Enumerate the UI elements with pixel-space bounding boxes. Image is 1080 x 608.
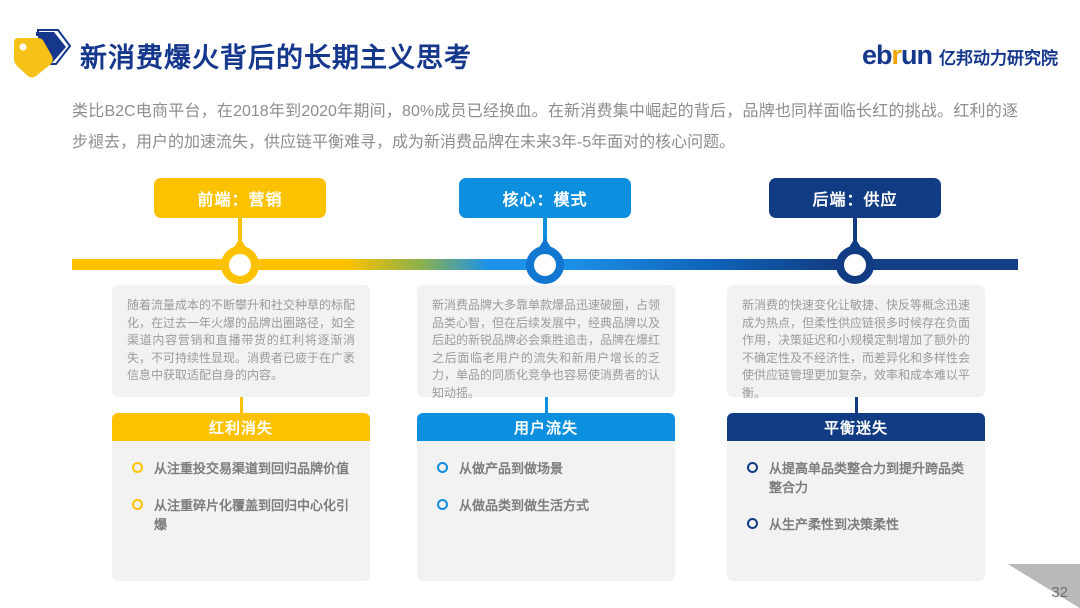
bullet-text: 从注重投交易渠道到回归品牌价值 [154, 459, 349, 478]
slide-canvas: 新消费爆火背后的长期主义思考 ebrun 亿邦动力研究院 类比B2C电商平台，在… [0, 0, 1080, 608]
pill-front-end: 前端：营销 [154, 178, 326, 218]
pill-front-end-label: 前端：营销 [197, 186, 282, 210]
description-text-1: 随着流量成本的不断攀升和社交种草的标配化，在过去一年火爆的品牌出圈路径，如全渠道… [127, 297, 355, 385]
page-title: 新消费爆火背后的长期主义思考 [80, 36, 472, 75]
bullet-list-1: 从注重投交易渠道到回归品牌价值 从注重碎片化覆盖到回归中心化引爆 [112, 441, 370, 534]
list-item: 从做产品到做场景 [437, 459, 659, 478]
page-number: 32 [1051, 584, 1068, 601]
list-item: 从注重碎片化覆盖到回归中心化引爆 [132, 496, 354, 534]
bullet-text: 从提高单品类整合力到提升跨品类整合力 [769, 459, 969, 497]
pill-core: 核心：模式 [459, 178, 631, 218]
bullet-text: 从做产品到做场景 [459, 459, 563, 478]
connector-3 [855, 397, 858, 413]
bullet-circle-icon [747, 462, 758, 473]
brand-name-en: ebrun [862, 42, 932, 69]
list-item: 从提高单品类整合力到提升跨品类整合力 [747, 459, 969, 497]
brand-en-part1: eb [862, 40, 892, 70]
list-item: 从生产柔性到决策柔性 [747, 515, 969, 534]
result-card-3: 平衡迷失 从提高单品类整合力到提升跨品类整合力 从生产柔性到决策柔性 [727, 413, 985, 581]
description-text-3: 新消费的快速变化让敏捷、快反等概念迅速成为热点，但柔性供应链很多时候存在负面作用… [742, 297, 970, 402]
brand-en-accent: r [891, 40, 901, 70]
list-item: 从做品类到做生活方式 [437, 496, 659, 515]
bullet-circle-icon [437, 499, 448, 510]
bullet-list-2: 从做产品到做场景 从做品类到做生活方式 [417, 441, 675, 515]
connector-1 [240, 397, 243, 413]
bullet-text: 从生产柔性到决策柔性 [769, 515, 899, 534]
description-card-3: 新消费的快速变化让敏捷、快反等概念迅速成为热点，但柔性供应链很多时候存在负面作用… [727, 285, 985, 397]
connector-2 [545, 397, 548, 413]
bullet-circle-icon [437, 462, 448, 473]
description-card-1: 随着流量成本的不断攀升和社交种草的标配化，在过去一年火爆的品牌出圈路径，如全渠道… [112, 285, 370, 397]
intro-paragraph: 类比B2C电商平台，在2018年到2020年期间，80%成员已经换血。在新消费集… [72, 96, 1018, 158]
column-front-end: 随着流量成本的不断攀升和社交种草的标配化，在过去一年火爆的品牌出圈路径，如全渠道… [112, 285, 370, 581]
timeline-node-3 [836, 246, 874, 284]
bullet-circle-icon [132, 499, 143, 510]
description-text-2: 新消费品牌大多靠单款爆品迅速破圈，占领品类心智，但在后续发展中，经典品牌以及后起… [432, 297, 660, 402]
bullet-circle-icon [132, 462, 143, 473]
pill-back-end: 后端：供应 [769, 178, 941, 218]
brand-logo: ebrun 亿邦动力研究院 [862, 42, 1058, 69]
brand-name-cn: 亿邦动力研究院 [939, 50, 1058, 67]
timeline-node-1 [221, 246, 259, 284]
result-title-1: 红利消失 [112, 413, 370, 441]
pill-back-end-label: 后端：供应 [812, 186, 897, 210]
brand-en-part2: un [901, 40, 932, 70]
result-title-3: 平衡迷失 [727, 413, 985, 441]
result-card-1: 红利消失 从注重投交易渠道到回归品牌价值 从注重碎片化覆盖到回归中心化引爆 [112, 413, 370, 581]
column-back-end: 新消费的快速变化让敏捷、快反等概念迅速成为热点，但柔性供应链很多时候存在负面作用… [727, 285, 985, 581]
corner-decoration [1008, 564, 1080, 608]
description-card-2: 新消费品牌大多靠单款爆品迅速破圈，占领品类心智，但在后续发展中，经典品牌以及后起… [417, 285, 675, 397]
result-card-2: 用户流失 从做产品到做场景 从做品类到做生活方式 [417, 413, 675, 581]
bullet-text: 从注重碎片化覆盖到回归中心化引爆 [154, 496, 354, 534]
column-core: 新消费品牌大多靠单款爆品迅速破圈，占领品类心智，但在后续发展中，经典品牌以及后起… [417, 285, 675, 581]
list-item: 从注重投交易渠道到回归品牌价值 [132, 459, 354, 478]
bullet-text: 从做品类到做生活方式 [459, 496, 589, 515]
bullet-list-3: 从提高单品类整合力到提升跨品类整合力 从生产柔性到决策柔性 [727, 441, 985, 534]
timeline-node-2 [526, 246, 564, 284]
bullet-circle-icon [747, 518, 758, 529]
price-tag-icon [8, 26, 72, 84]
pill-core-label: 核心：模式 [502, 186, 587, 210]
result-title-2: 用户流失 [417, 413, 675, 441]
